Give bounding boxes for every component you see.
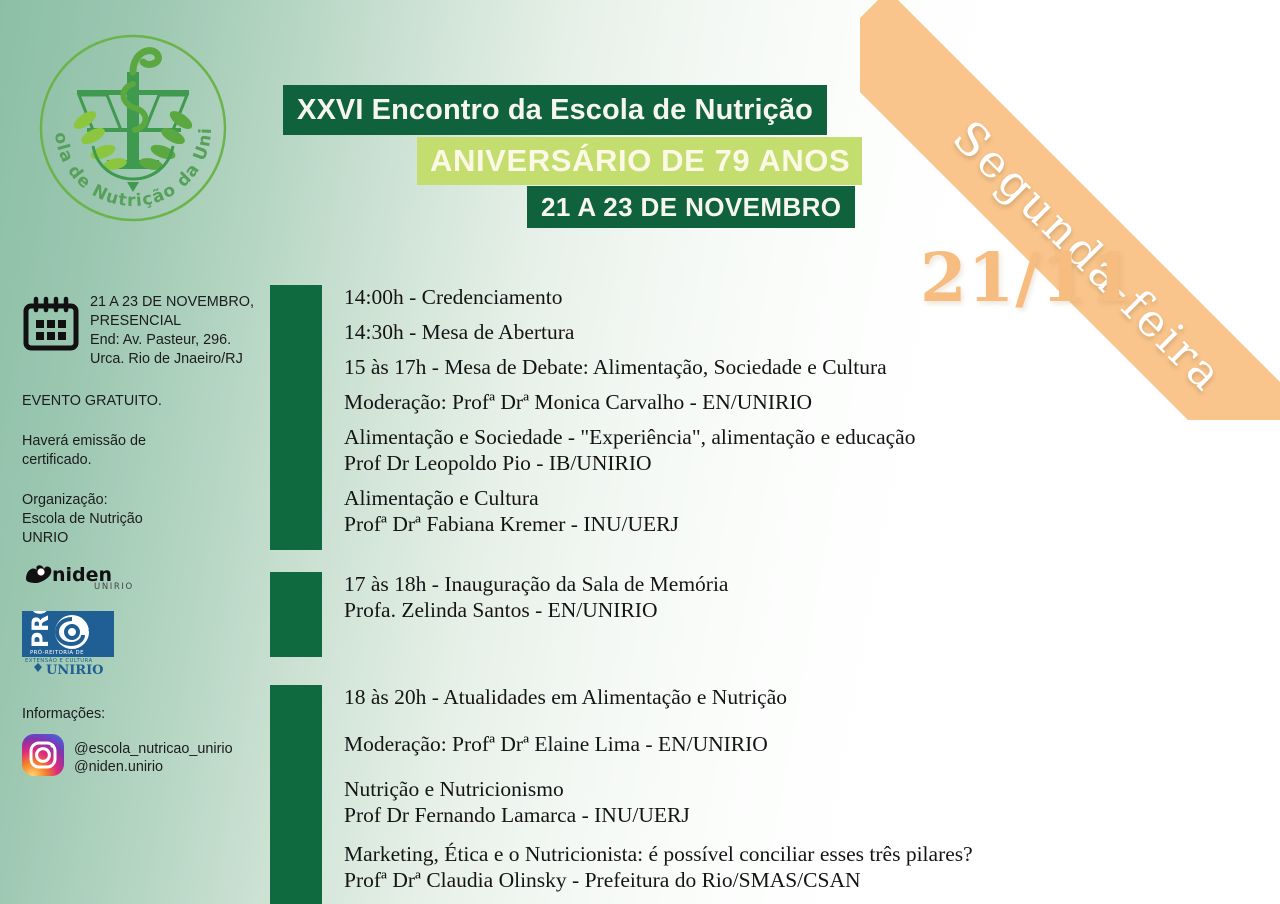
schedule-group: Alimentação e Cultura Profª Drª Fabiana … [344, 486, 1280, 537]
title-line-3-dates: 21 A 23 DE NOVEMBRO [527, 186, 855, 228]
schedule-line: 15 às 17h - Mesa de Debate: Alimentação,… [344, 355, 1280, 380]
proexc-xc: XC [88, 621, 104, 634]
schedule-group: Nutrição e Nutricionismo Prof Dr Fernand… [344, 777, 1280, 828]
organization-block: Organização: Escola de Nutrição UNRIO [22, 491, 262, 548]
schedule-line: Alimentação e Cultura [344, 486, 1280, 511]
schedule-line: 18 às 20h - Atualidades em Alimentação e… [344, 685, 1280, 710]
organization-line: UNRIO [22, 529, 262, 548]
instagram-handle[interactable]: @niden.unirio [74, 758, 233, 776]
escola-de-nutricao-logo: Escola de Nutrição da Unirio [35, 12, 231, 244]
event-poster: Segunda-feira [0, 0, 1280, 904]
schedule-line: 14:00h - Credenciamento [344, 285, 1280, 310]
schedule-accent-bar [270, 285, 322, 550]
schedule-line: Marketing, Ética e o Nutricionista: é po… [344, 842, 1280, 867]
niden-sub: UNIRIO [94, 582, 134, 591]
schedule-line: Profª Drª Fabiana Kremer - INU/UERJ [344, 512, 1280, 537]
proexc-unirio-logo: PRO XC PRÓ-REITORIA DE EXTENSÃO E CULTUR… [22, 611, 262, 683]
instagram-block[interactable]: @escola_nutricao_unirio @niden.unirio [22, 734, 262, 782]
sidebar-info: 21 A 23 DE NOVEMBRO, PRESENCIAL End: Av.… [22, 292, 262, 782]
organization-line: Escola de Nutrição [22, 510, 262, 529]
schedule-line: Profa. Zelinda Santos - EN/UNIRIO [344, 598, 1280, 623]
title-line-2-anniversary: ANIVERSÁRIO DE 79 ANOS [417, 137, 862, 185]
schedule-entries: 14:00h - Credenciamento 14:30h - Mesa de… [322, 285, 1280, 550]
schedule-block: 17 às 18h - Inauguração da Sala de Memór… [270, 572, 1280, 657]
schedule-group: 17 às 18h - Inauguração da Sala de Memór… [344, 572, 1280, 623]
schedule-entries: 18 às 20h - Atualidades em Alimentação e… [322, 685, 1280, 904]
instagram-icon[interactable] [22, 734, 64, 782]
logo-artwork: Escola de Nutrição da Unirio [35, 12, 231, 244]
instagram-handle[interactable]: @escola_nutricao_unirio [74, 740, 233, 758]
proexc-line1: PRÓ-REITORIA DE [30, 649, 84, 656]
schedule-line: Moderação: Profª Drª Elaine Lima - EN/UN… [344, 732, 1280, 757]
certificate-line: certificado. [22, 451, 262, 470]
schedule-group: Marketing, Ética e o Nutricionista: é po… [344, 842, 1280, 893]
proexc-unirio: UNIRIO [46, 663, 104, 677]
schedule-group: 18 às 20h - Atualidades em Alimentação e… [344, 685, 1280, 710]
schedule-accent-bar [270, 572, 322, 657]
schedule-line: Moderação: Profª Drª Monica Carvalho - E… [344, 390, 1280, 415]
schedule-group: Moderação: Profª Drª Monica Carvalho - E… [344, 390, 1280, 415]
certificate-line: Haverá emissão de [22, 432, 262, 451]
organization-line: Organização: [22, 491, 262, 510]
schedule-line: 17 às 18h - Inauguração da Sala de Memór… [344, 572, 1280, 597]
schedule-line: 14:30h - Mesa de Abertura [344, 320, 1280, 345]
schedule-group: 14:30h - Mesa de Abertura [344, 320, 1280, 345]
calendar-icon [22, 296, 80, 358]
free-event-note: EVENTO GRATUITO. [22, 392, 262, 411]
schedule-list: 14:00h - Credenciamento 14:30h - Mesa de… [270, 285, 1280, 904]
schedule-entries: 17 às 18h - Inauguração da Sala de Memór… [322, 572, 1280, 657]
address-text: 21 A 23 DE NOVEMBRO, PRESENCIAL End: Av.… [90, 292, 254, 370]
schedule-group: Alimentação e Sociedade - "Experiência",… [344, 425, 1280, 476]
address-block: 21 A 23 DE NOVEMBRO, PRESENCIAL End: Av.… [22, 292, 262, 370]
address-line: Urca. Rio de Jnaeiro/RJ [90, 350, 254, 369]
schedule-accent-bar [270, 685, 322, 904]
address-line: PRESENCIAL [90, 312, 254, 331]
niden-logo: niden UNIRIO [22, 561, 262, 597]
info-label: Informações: [22, 705, 262, 724]
schedule-line: Prof Dr Fernando Lamarca - INU/UERJ [344, 803, 1280, 828]
proexc-pro: PRO [29, 611, 54, 648]
logo-caption: Escola de Nutrição da Unirio [35, 12, 216, 211]
schedule-group: 15 às 17h - Mesa de Debate: Alimentação,… [344, 355, 1280, 380]
schedule-line: Prof Dr Leopoldo Pio - IB/UNIRIO [344, 451, 1280, 476]
schedule-group: Moderação: Profª Drª Elaine Lima - EN/UN… [344, 732, 1280, 757]
title-line-1: XXVI Encontro da Escola de Nutrição [283, 85, 827, 135]
instagram-handles: @escola_nutricao_unirio @niden.unirio [74, 740, 233, 777]
address-line: 21 A 23 DE NOVEMBRO, [90, 293, 254, 312]
schedule-line: Profª Drª Claudia Olinsky - Prefeitura d… [344, 868, 1280, 893]
certificate-note: Haverá emissão de certificado. [22, 432, 262, 470]
address-line: End: Av. Pasteur, 296. [90, 331, 254, 350]
schedule-line: Alimentação e Sociedade - "Experiência",… [344, 425, 1280, 450]
schedule-block: 14:00h - Credenciamento 14:30h - Mesa de… [270, 285, 1280, 550]
schedule-block: 18 às 20h - Atualidades em Alimentação e… [270, 685, 1280, 904]
schedule-group: 14:00h - Credenciamento [344, 285, 1280, 310]
schedule-line: Nutrição e Nutricionismo [344, 777, 1280, 802]
